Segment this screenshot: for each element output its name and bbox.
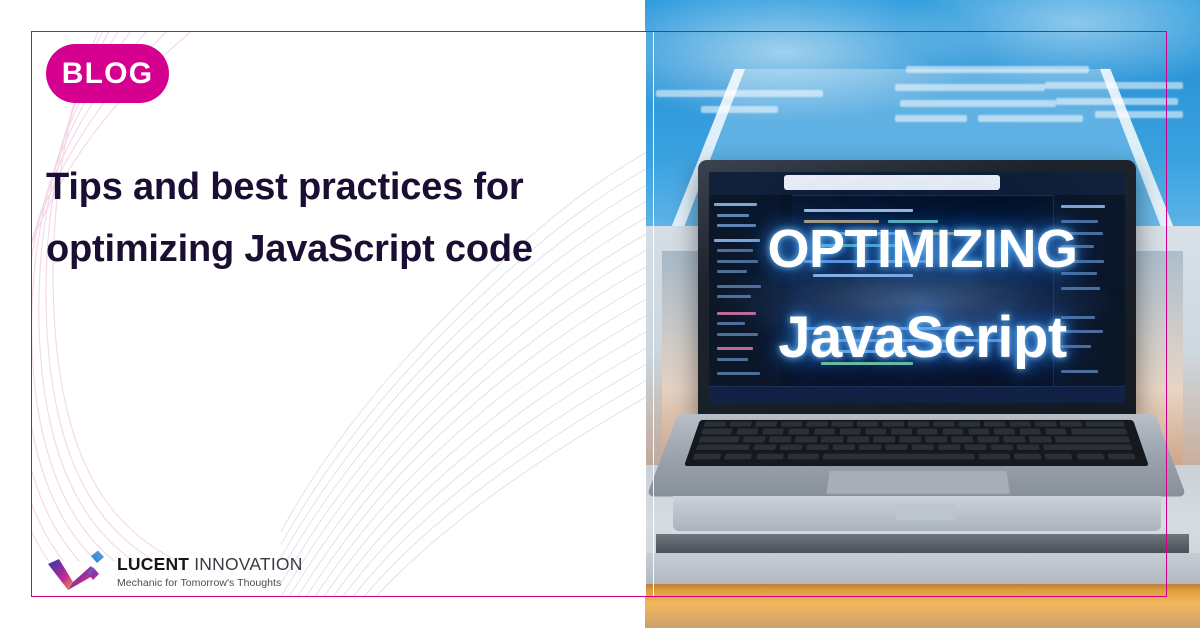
checkmark-gradient-icon <box>46 550 108 594</box>
ide-urlbar <box>784 175 1001 190</box>
brand-logo-text: LUCENT INNOVATION Mechanic for Tomorrow'… <box>117 555 303 589</box>
hero-photo: OPTIMIZING JavaScript <box>645 0 1200 628</box>
brand-name-light: INNOVATION <box>189 554 302 574</box>
laptop-trackpad <box>825 470 1011 495</box>
page-title-line-2: optimizing JavaScript code <box>46 219 591 281</box>
blog-banner-canvas: BLOG Tips and best practices for optimiz… <box>0 0 1200 628</box>
hero-photo-scene: OPTIMIZING JavaScript <box>645 0 1200 628</box>
page-title: Tips and best practices for optimizing J… <box>46 157 591 280</box>
blog-badge: BLOG <box>46 44 169 103</box>
decorative-pink-arcs <box>31 31 291 561</box>
laptop-base-notch <box>895 504 956 520</box>
left-content-panel <box>31 31 646 597</box>
shelf-light <box>645 553 1200 584</box>
photo-overlay-line-2: JavaScript <box>645 304 1200 371</box>
laptop-keyboard-deck <box>647 414 1188 497</box>
photo-overlay-line-1: OPTIMIZING <box>645 218 1200 280</box>
laptop-lid <box>698 160 1136 417</box>
ide-status-bar <box>709 386 1126 403</box>
page-title-line-1: Tips and best practices for <box>46 166 524 208</box>
brand-name-bold: LUCENT <box>117 554 189 574</box>
laptop-keys <box>684 420 1150 466</box>
brand-tagline: Mechanic for Tomorrow's Thoughts <box>117 577 303 589</box>
blog-badge-label: BLOG <box>62 57 153 91</box>
brand-logo[interactable]: LUCENT INNOVATION Mechanic for Tomorrow'… <box>46 550 303 594</box>
brand-name: LUCENT INNOVATION <box>117 555 303 575</box>
